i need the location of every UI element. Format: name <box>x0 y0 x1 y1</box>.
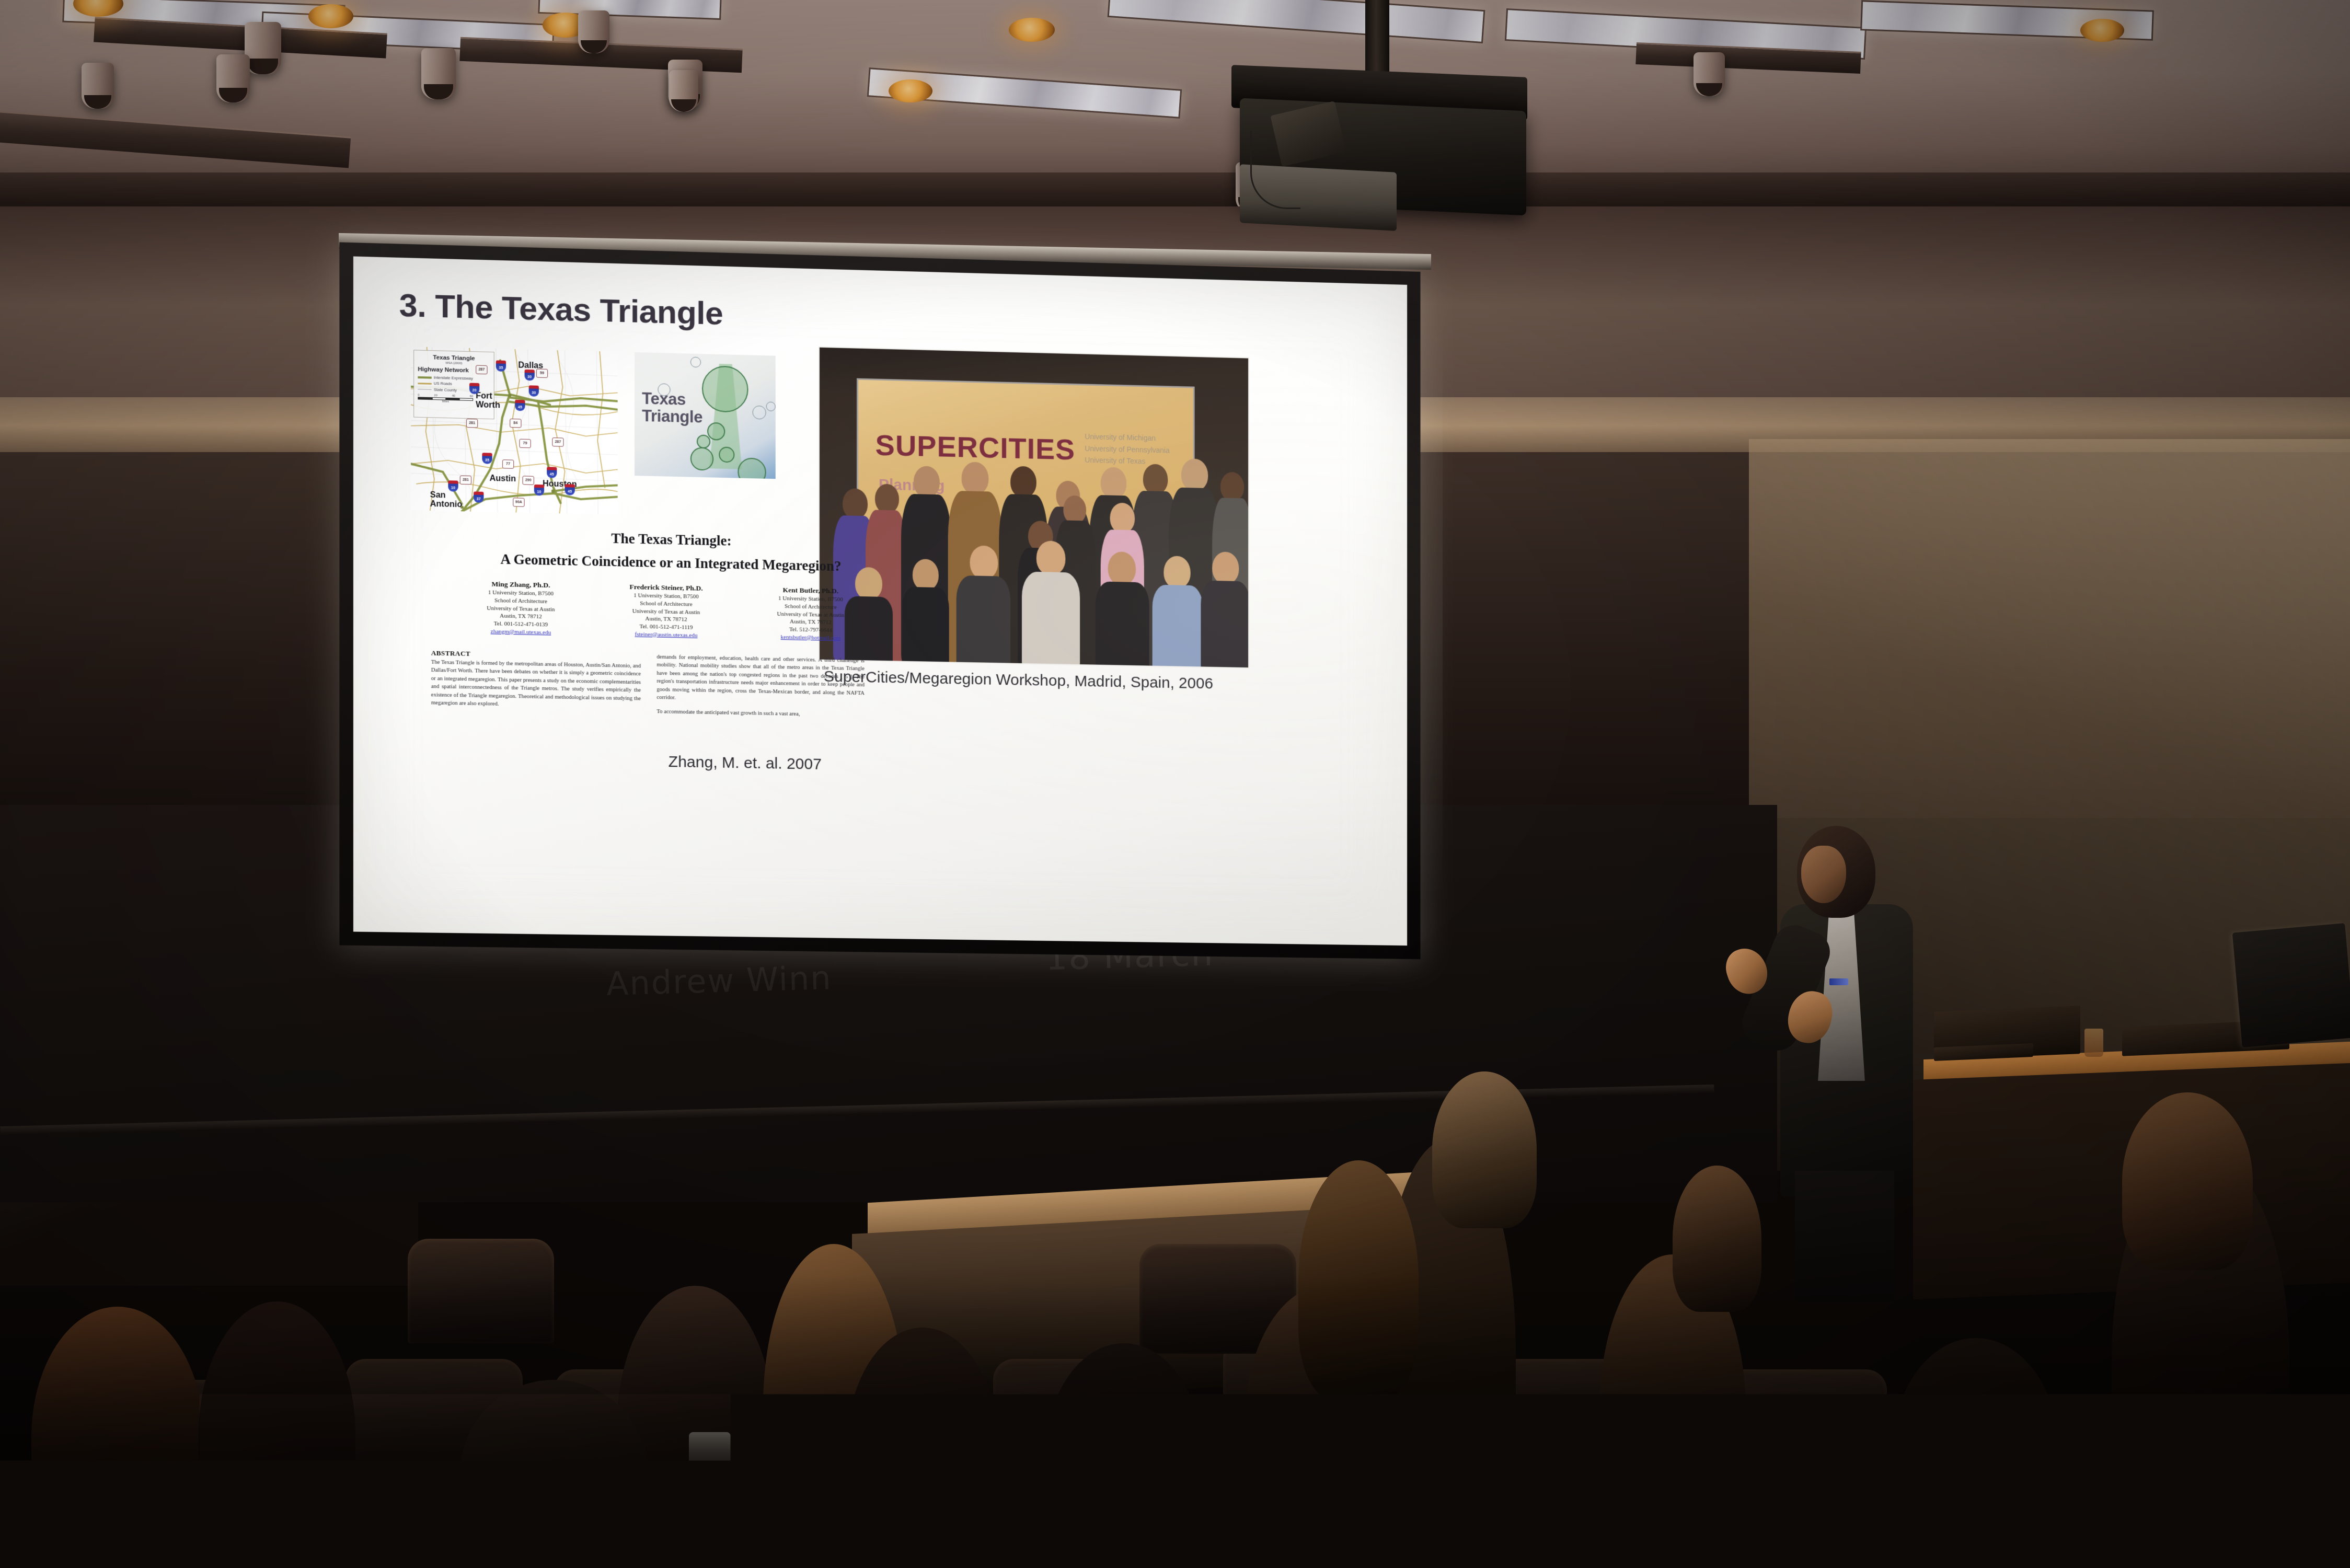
photo-person-head <box>914 466 940 498</box>
ceiling-downlight <box>1009 18 1055 42</box>
scale-tick: 20 <box>434 394 437 398</box>
photo-person-body <box>1096 581 1149 668</box>
paper-title-line1: The Texas Triangle: <box>481 527 860 552</box>
legend-label-interstate: Interstate Expressway <box>434 375 473 381</box>
scale-tick: 0 <box>418 394 419 397</box>
audience-member <box>1892 1338 2059 1568</box>
photo-person-head <box>913 559 939 591</box>
slide-citation: Zhang, M. et. al. 2007 <box>560 751 928 775</box>
photo-person-head <box>1143 464 1168 494</box>
ceiling-can-light <box>578 10 609 53</box>
texas-triangle-highway-map: Texas Triangle MSA (2000) Highway Networ… <box>411 347 618 515</box>
photo-person-body <box>957 575 1010 667</box>
audience-member <box>460 1380 648 1568</box>
presentation-slide: 3. The Texas Triangle <box>353 256 1407 946</box>
audience-member <box>2122 1092 2253 1270</box>
map-us-route-marker: 290 <box>523 476 534 485</box>
photo-person-head <box>1108 551 1136 585</box>
map-interstate-shield: 30 <box>525 370 535 381</box>
photo-person-head <box>1101 467 1126 499</box>
photo-person-head <box>875 484 899 514</box>
audience-member <box>31 1307 204 1568</box>
legend-label-usroads: US Roads <box>434 381 452 386</box>
audience-member <box>199 1301 355 1568</box>
photo-person-head <box>1010 466 1036 498</box>
map-us-route-marker: 90A <box>513 498 524 507</box>
map-interstate-shield: 10 <box>448 480 458 492</box>
map-city-fortworth: Fort Worth <box>476 391 508 410</box>
map-interstate-shield: 20 <box>469 383 479 394</box>
photo-person-head <box>1164 556 1190 589</box>
author-block: Ming Zhang, Ph.D. 1 University Station, … <box>455 579 587 637</box>
legend-label-statecounty: State County <box>434 387 457 393</box>
photo-person-body <box>1201 580 1249 668</box>
photo-person-head <box>962 462 989 494</box>
presenter-face <box>1801 846 1846 903</box>
logo-node-circle <box>697 434 710 448</box>
projector-mount-pole <box>1365 0 1389 78</box>
logo-outline-circle <box>690 357 701 368</box>
map-city-austin: Austin <box>490 474 516 484</box>
map-us-route-marker: 287 <box>476 365 487 375</box>
map-us-route-marker: 79 <box>519 439 531 448</box>
presenter-name-badge <box>1829 978 1848 985</box>
logo-text-line2: Triangle <box>642 407 702 426</box>
map-interstate-shield: 10 <box>534 485 544 496</box>
photo-person-head <box>1212 551 1239 584</box>
slide-title: 3. The Texas Triangle <box>399 286 723 332</box>
photo-person-body <box>1022 571 1080 668</box>
texas-triangle-logo-graphic: Texas Triangle <box>635 352 776 479</box>
photo-person <box>1153 556 1203 668</box>
banner-university: University of Michigan <box>1085 432 1155 442</box>
ceiling-can-light <box>245 22 281 74</box>
logo-node-circle <box>719 447 734 463</box>
banner-title-text: SUPERCITIES <box>876 428 1076 467</box>
paper-title: The Texas Triangle: A Geometric Coincide… <box>481 527 860 575</box>
photo-person-head <box>1220 472 1244 502</box>
logo-text: Texas Triangle <box>642 390 702 426</box>
scale-tick: 40 <box>452 395 455 398</box>
workshop-group-photo: SUPERCITIES Planning University of Michi… <box>819 347 1249 668</box>
banner-university: University of Pennsylvania <box>1085 444 1169 455</box>
photo-person-head <box>1110 503 1135 534</box>
photo-person <box>1201 551 1249 668</box>
map-interstate-shield: 35 <box>496 360 506 372</box>
logo-node-circle <box>707 422 725 441</box>
ceiling-downlight <box>308 4 353 28</box>
audience-member <box>1432 1071 1537 1228</box>
logo-node-circle <box>738 457 766 479</box>
map-us-route-marker: 84 <box>510 419 521 428</box>
legend-swatch-statecounty <box>418 389 431 390</box>
logo-outline-circle <box>753 406 766 420</box>
ceiling-can-light <box>669 70 698 112</box>
map-interstate-shield: 37 <box>474 491 483 503</box>
chalkboard-note: Andrew Winn <box>606 959 832 1003</box>
legend-swatch-interstate <box>418 376 431 379</box>
drink-cup <box>689 1432 731 1479</box>
podium-monitor[interactable] <box>2232 923 2350 1047</box>
abstract-left-column: ABSTRACT The Texas Triangle is formed by… <box>431 649 641 715</box>
logo-node-circle <box>690 447 713 470</box>
photo-person-body <box>1153 585 1203 669</box>
map-city-sanantonio: San Antonio <box>430 491 459 510</box>
abstract-text: To accommodate the anticipated vast grow… <box>656 708 865 720</box>
photo-person-head <box>843 488 868 519</box>
photo-person-head <box>1181 458 1208 491</box>
map-interstate-shield: 45 <box>565 484 575 495</box>
author-block: Frederick Steiner, Ph.D. 1 University St… <box>600 582 732 640</box>
audience-member <box>1045 1343 1202 1568</box>
photo-person <box>1022 540 1080 668</box>
author-block: Kent Butler, Ph.D. 1 University Station,… <box>745 584 876 643</box>
legend-swatch-usroads <box>418 383 431 385</box>
ceiling-can-light <box>216 54 250 102</box>
abstract-text: demands for employment, education, healt… <box>656 653 865 706</box>
photo-person <box>1096 551 1149 669</box>
presenter-legs <box>1795 1171 1894 1301</box>
map-interstate-shield: 35 <box>482 453 492 464</box>
legend-entry-interstate: Interstate Expressway <box>418 375 490 382</box>
banner-university-list: University of Michigan University of Pen… <box>1085 431 1169 468</box>
lecture-hall-scene: Andrew Winn 18 March 3. The Texas Triang… <box>0 0 2350 1568</box>
map-us-route-marker: 281 <box>460 476 471 485</box>
ceiling-can-light <box>82 63 114 109</box>
auditorium-seat <box>408 1239 554 1343</box>
map-us-route-marker: 287 <box>552 437 563 447</box>
photo-person <box>902 559 949 666</box>
ceiling-downlight <box>889 79 932 102</box>
photo-caption: SuperCities/Megaregion Workshop, Madrid,… <box>824 668 1213 693</box>
abstract-right-column: demands for employment, education, healt… <box>656 653 865 720</box>
photo-person-body <box>902 587 949 666</box>
scale-unit-label: Miles <box>418 400 473 405</box>
ceiling-can-light <box>1694 52 1725 96</box>
photo-person <box>957 545 1010 667</box>
logo-outline-circle <box>766 401 776 411</box>
map-interstate-shield: 30 <box>529 385 539 397</box>
paper-title-line2: A Geometric Coincidence or an Integrated… <box>481 551 860 575</box>
map-us-route-marker: 281 <box>466 419 478 428</box>
audience-member <box>1298 1160 1419 1401</box>
photo-person-head <box>970 545 998 579</box>
podium-cup <box>2084 1029 2103 1057</box>
map-us-route-marker: 59 <box>536 368 548 378</box>
abstract-text: The Texas Triangle is formed by the metr… <box>431 659 641 711</box>
audience-member <box>1673 1166 1761 1312</box>
paper-abstract: ABSTRACT The Texas Triangle is formed by… <box>431 649 865 719</box>
logo-node-circle <box>702 365 748 412</box>
scale-tick: 60 <box>470 395 473 398</box>
photo-person-head <box>1036 540 1066 575</box>
photo-person-head <box>1063 495 1086 524</box>
map-interstate-shield: 45 <box>547 467 557 478</box>
ceiling-can-light <box>421 48 456 99</box>
map-us-route-marker: 77 <box>502 459 514 469</box>
audience-member <box>742 1422 962 1568</box>
map-interstate-shield: 45 <box>515 400 525 411</box>
logo-text-line1: Texas <box>642 389 686 409</box>
ceiling-downlight <box>2080 19 2124 42</box>
projection-screen: 3. The Texas Triangle <box>339 242 1420 959</box>
paper-authors: Ming Zhang, Ph.D. 1 University Station, … <box>455 579 876 643</box>
